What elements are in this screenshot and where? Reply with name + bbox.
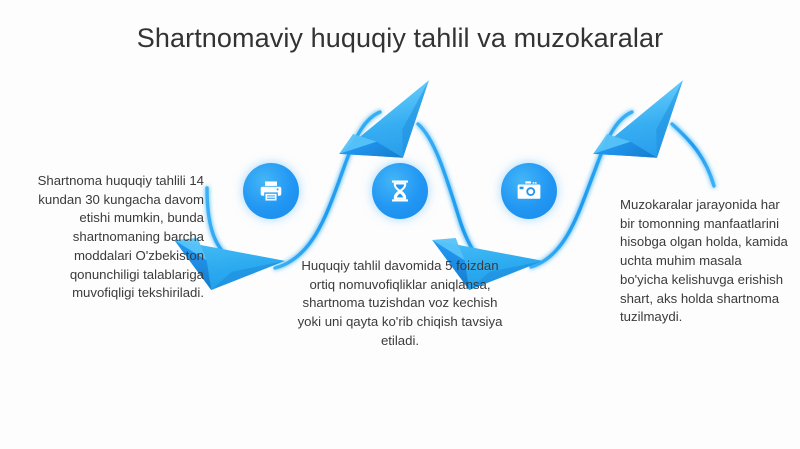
paper-plane-up-right — [587, 80, 711, 186]
step-1-description: Shartnoma huquqiy tahlili 14 kundan 30 k… — [18, 172, 204, 303]
step-1-icon-circle[interactable] — [243, 163, 299, 219]
step-2-icon-circle[interactable] — [372, 163, 428, 219]
step-3-icon-circle[interactable] — [501, 163, 557, 219]
printer-icon — [258, 178, 284, 204]
slide-canvas: Shartnomaviy huquqiy tahlil va muzokaral… — [0, 0, 800, 449]
camera-icon — [516, 178, 542, 204]
step-2-description: Huquqiy tahlil davomida 5 foizdan ortiq … — [296, 257, 504, 351]
hourglass-icon — [387, 178, 413, 204]
step-3-description: Muzokaralar jarayonida har bir tomonning… — [620, 196, 788, 327]
